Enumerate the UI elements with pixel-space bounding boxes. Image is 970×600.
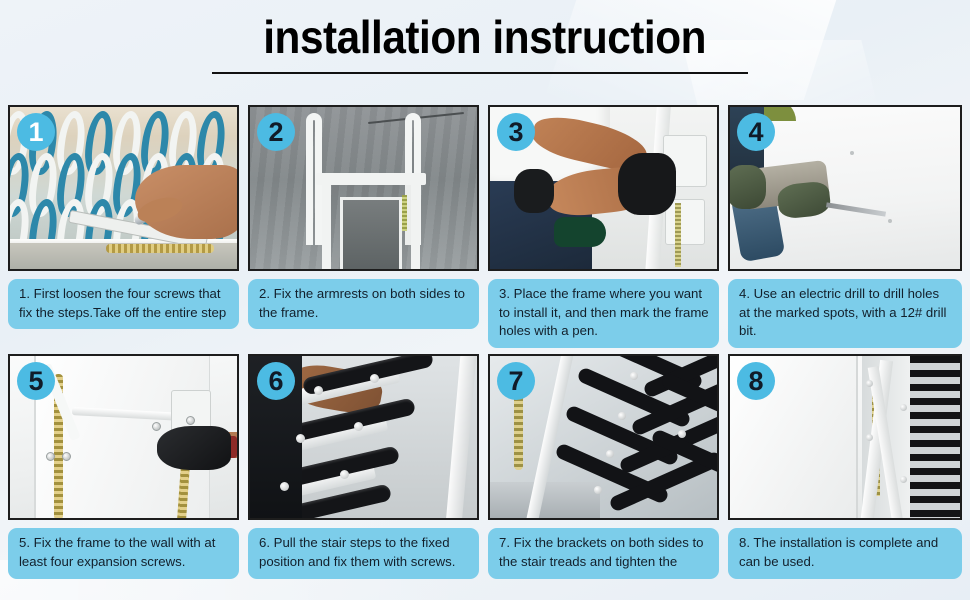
lattice-rivet-3 xyxy=(606,450,614,458)
step-card-7: 7 7. Fix the brackets on both sides to t… xyxy=(488,354,719,578)
step-photo-6: 6 xyxy=(248,354,479,520)
step-badge-4: 4 xyxy=(737,113,775,151)
worker-glove-left xyxy=(514,169,554,213)
step-caption-2: 2. Fix the armrests on both sides to the… xyxy=(248,279,479,329)
step-badge-1: 1 xyxy=(17,113,55,151)
step-card-4: 4 4. Use an electric drill to drill hole… xyxy=(728,105,962,348)
worker-glove-front xyxy=(776,180,831,219)
wall-bracket-lower xyxy=(665,199,705,245)
step-card-8: 8 8. The installation is complete and ca… xyxy=(728,354,962,578)
steps-row-bottom: 5 5. Fix the frame to the wall with at l… xyxy=(8,354,962,578)
worker-glove-rear xyxy=(728,165,766,209)
step-caption-5: 5. Fix the frame to the wall with at lea… xyxy=(8,528,239,578)
worker-boot xyxy=(554,217,606,247)
step-card-3: 3 3. Place the frame where you want to i… xyxy=(488,105,719,348)
step-caption-8: 8. The installation is complete and can … xyxy=(728,528,962,578)
lattice-rivet-1 xyxy=(630,372,638,380)
title-underline xyxy=(212,72,748,74)
drill-mark-2 xyxy=(850,151,854,155)
drill-mark-1 xyxy=(888,219,892,223)
step-badge-6: 6 xyxy=(257,362,295,400)
step-badge-5: 5 xyxy=(17,362,55,400)
step-caption-1: 1. First loosen the four screws that fix… xyxy=(8,279,239,329)
brass-coil xyxy=(106,244,214,253)
step-card-2: 2 2. Fix the armrests on both sides to t… xyxy=(248,105,479,348)
frame-opening xyxy=(340,197,402,271)
step-badge-2: 2 xyxy=(257,113,295,151)
frame-spring xyxy=(675,203,681,267)
worker-glove xyxy=(157,426,231,470)
steps-grid: 1 1. First loosen the four screws that f… xyxy=(8,105,962,579)
step-card-5: 5 5. Fix the frame to the wall with at l… xyxy=(8,354,239,578)
step-photo-5: 5 xyxy=(8,354,239,520)
step-card-1: 1 1. First loosen the four screws that f… xyxy=(8,105,239,348)
step-caption-7: 7. Fix the brackets on both sides to the… xyxy=(488,528,719,578)
step-caption-6: 6. Pull the stair steps to the fixed pos… xyxy=(248,528,479,578)
step-caption-3: 3. Place the frame where you want to ins… xyxy=(488,279,719,348)
page-title: installation instruction xyxy=(264,14,707,61)
frame-spring xyxy=(402,195,407,231)
steps-row-top: 1 1. First loosen the four screws that f… xyxy=(8,105,962,348)
step-photo-4: 4 xyxy=(728,105,962,271)
page-title-container: installation instruction xyxy=(0,14,970,61)
lattice-rivet-2 xyxy=(618,412,626,420)
step-photo-3: 3 xyxy=(488,105,719,271)
side-post xyxy=(445,354,477,520)
worker-glove-right xyxy=(618,153,676,215)
step-photo-2: 2 xyxy=(248,105,479,271)
step-badge-7: 7 xyxy=(497,362,535,400)
lattice-rivet-4 xyxy=(594,486,602,494)
step-badge-3: 3 xyxy=(497,113,535,151)
step-photo-7: 7 xyxy=(488,354,719,520)
frame-top-bar xyxy=(316,173,426,185)
drill-bit xyxy=(826,202,886,216)
step-badge-8: 8 xyxy=(737,362,775,400)
step-card-6: 6 6. Pull the stair steps to the fixed p… xyxy=(248,354,479,578)
step-photo-1: 1 xyxy=(8,105,239,271)
step-caption-4: 4. Use an electric drill to drill holes … xyxy=(728,279,962,348)
step-photo-8: 8 xyxy=(728,354,962,520)
